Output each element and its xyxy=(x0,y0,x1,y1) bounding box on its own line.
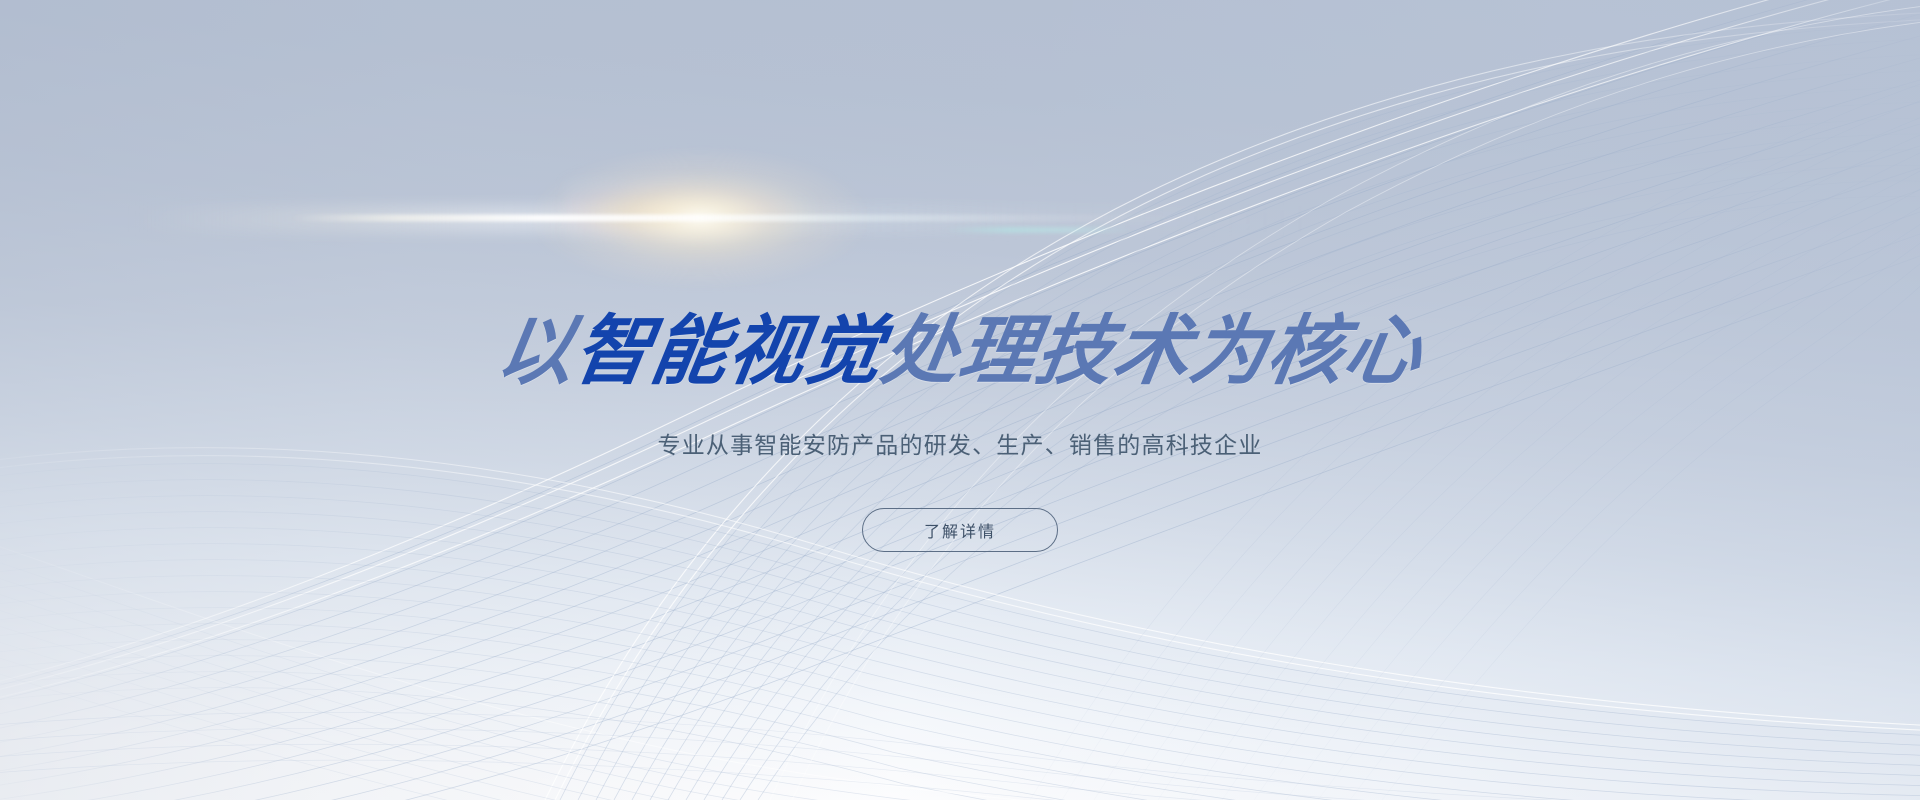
cta-wrapper: 了解详情 xyxy=(862,508,1058,552)
learn-more-button[interactable]: 了解详情 xyxy=(862,508,1058,552)
hero-banner: 以智能视觉处理技术为核心 专业从事智能安防产品的研发、生产、销售的高科技企业 了… xyxy=(0,0,1920,800)
flowing-line-waves xyxy=(0,0,1920,800)
